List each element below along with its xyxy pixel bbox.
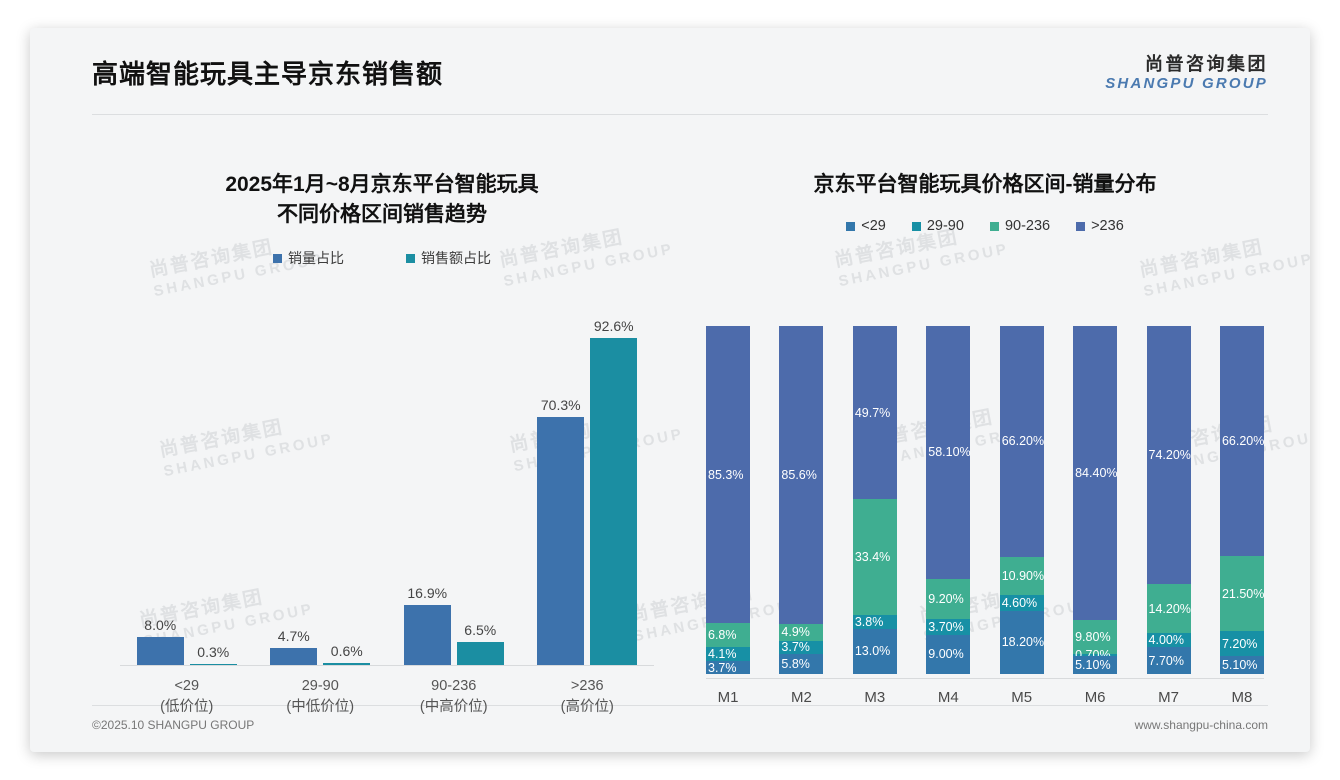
bar-column[interactable]: 0.6% — [323, 312, 370, 665]
category-tick-line1: 29-90 — [261, 676, 379, 697]
chart-title-left-line2: 不同价格区间销售趋势 — [92, 200, 672, 230]
segment-value-label: 84.40% — [1075, 466, 1117, 480]
stacked-bar-segment[interactable]: 7.20% — [1220, 631, 1264, 656]
bar-group: 16.9%6.5% — [395, 312, 513, 665]
stacked-bar-segment[interactable]: 6.8% — [706, 623, 750, 647]
stacked-bar-column[interactable]: 58.10%9.20%3.70%9.00% — [926, 326, 970, 674]
bar-value-label: 70.3% — [541, 397, 581, 413]
chart-title-left-line1: 2025年1月~8月京东平台智能玩具 — [92, 170, 672, 200]
legend-right-label: 29-90 — [927, 218, 964, 234]
segment-value-label: 5.10% — [1075, 658, 1110, 672]
header-divider — [92, 114, 1268, 115]
stacked-bar-segment[interactable]: 9.20% — [926, 579, 970, 619]
bar-value-label: 16.9% — [407, 585, 447, 601]
segment-value-label: 9.20% — [928, 592, 963, 606]
stacked-bar-segment[interactable]: 85.3% — [706, 326, 750, 623]
legend-right-item[interactable]: 90-236 — [990, 218, 1050, 234]
segment-value-label: 21.50% — [1222, 587, 1264, 601]
month-tick-label: M4 — [926, 679, 970, 724]
legend-swatch-icon — [273, 254, 282, 263]
bar-value-label: 8.0% — [144, 617, 176, 633]
brand-logo: 尚普咨询集团 SHANGPU GROUP — [1105, 54, 1268, 93]
bar[interactable] — [190, 664, 237, 665]
legend-swatch-icon — [406, 254, 415, 263]
stacked-bar-segment[interactable]: 66.20% — [1220, 326, 1264, 556]
stacked-bar-column[interactable]: 74.20%14.20%4.00%7.70% — [1147, 326, 1191, 674]
segment-value-label: 74.20% — [1149, 448, 1191, 462]
category-tick-line1: <29 — [128, 676, 246, 697]
month-tick-label: M2 — [779, 679, 823, 724]
segment-value-label: 85.3% — [708, 468, 743, 482]
legend-right-item[interactable]: <29 — [846, 218, 886, 234]
segment-value-label: 14.20% — [1149, 602, 1191, 616]
stacked-bar-segment[interactable]: 4.00% — [1147, 633, 1191, 647]
segment-value-label: 5.10% — [1222, 658, 1257, 672]
category-tick-line2: (低价位) — [128, 697, 246, 718]
legend-left-item[interactable]: 销量占比 — [273, 248, 344, 268]
segment-value-label: 66.20% — [1222, 434, 1264, 448]
stacked-bar-segment[interactable]: 3.70% — [926, 619, 970, 635]
stacked-bar-column[interactable]: 85.3%6.8%4.1%3.7% — [706, 326, 750, 674]
month-tick-label: M1 — [706, 679, 750, 724]
chart-legend-right: <2929-9090-236>236 — [692, 218, 1278, 234]
legend-swatch-icon — [846, 222, 855, 231]
category-tick-label: <29(低价位) — [128, 668, 246, 724]
segment-value-label: 4.60% — [1002, 596, 1037, 610]
legend-left-label: 销售额占比 — [421, 248, 491, 268]
bar-group: 4.7%0.6% — [261, 312, 379, 665]
stacked-bar-segment[interactable]: 4.60% — [1000, 595, 1044, 611]
month-tick-label: M7 — [1147, 679, 1191, 724]
month-tick-label: M3 — [853, 679, 897, 724]
stacked-bar-segment[interactable]: 66.20% — [1000, 326, 1044, 557]
stacked-bar-segment[interactable]: 5.10% — [1220, 656, 1264, 674]
stacked-bar-segment[interactable]: 14.20% — [1147, 584, 1191, 633]
stacked-bar-segment[interactable]: 74.20% — [1147, 326, 1191, 584]
segment-value-label: 66.20% — [1002, 434, 1044, 448]
segment-value-label: 13.0% — [855, 644, 890, 658]
month-tick-label: M6 — [1073, 679, 1117, 724]
bar-group: 70.3%92.6% — [528, 312, 646, 665]
bar-column[interactable]: 6.5% — [457, 312, 504, 665]
slide-canvas: 尚普咨询集团SHANGPU GROUP 尚普咨询集团SHANGPU GROUP … — [30, 28, 1310, 752]
chart-title-right: 京东平台智能玩具价格区间-销量分布 — [692, 144, 1278, 200]
month-tick-label: M5 — [1000, 679, 1044, 724]
stacked-bar-segment[interactable]: 21.50% — [1220, 556, 1264, 631]
bar[interactable] — [323, 663, 370, 665]
bar-column[interactable]: 4.7% — [270, 312, 317, 665]
bar[interactable] — [137, 637, 184, 665]
bar-column[interactable]: 16.9% — [404, 312, 451, 665]
category-tick-label: 90-236(中高价位) — [395, 668, 513, 724]
segment-value-label: 3.8% — [855, 615, 884, 629]
stacked-bar-segment[interactable]: 5.10% — [1073, 656, 1117, 674]
legend-left-label: 销量占比 — [288, 248, 344, 268]
segment-value-label: 4.9% — [781, 625, 810, 639]
chart-title-left: 2025年1月~8月京东平台智能玩具 不同价格区间销售趋势 — [92, 144, 672, 230]
stacked-bar-column[interactable]: 49.7%33.4%3.8%13.0% — [853, 326, 897, 674]
segment-value-label: 18.20% — [1002, 635, 1044, 649]
legend-swatch-icon — [990, 222, 999, 231]
legend-right-item[interactable]: 29-90 — [912, 218, 964, 234]
legend-right-label: >236 — [1091, 218, 1124, 234]
bar-column[interactable]: 0.3% — [190, 312, 237, 665]
bar-value-label: 92.6% — [594, 318, 634, 334]
grouped-bar-category-axis: <29(低价位)29-90(中低价位)90-236(中高价位)>236(高价位) — [120, 668, 654, 724]
segment-value-label: 85.6% — [781, 468, 816, 482]
legend-swatch-icon — [912, 222, 921, 231]
legend-right-label: 90-236 — [1005, 218, 1050, 234]
category-tick-label: >236(高价位) — [528, 668, 646, 724]
stacked-bar-column[interactable]: 66.20%21.50%7.20%5.10% — [1220, 326, 1264, 674]
bar-column[interactable]: 92.6% — [590, 312, 637, 665]
stacked-bar-column[interactable]: 84.40%9.80%0.70%5.10% — [1073, 326, 1117, 674]
segment-value-label: 9.00% — [928, 647, 963, 661]
stacked-bar-segment[interactable]: 33.4% — [853, 499, 897, 615]
stacked-bar-segment[interactable]: 4.9% — [779, 624, 823, 641]
chart-panel-left: 2025年1月~8月京东平台智能玩具 不同价格区间销售趋势 销量占比销售额占比 … — [92, 144, 672, 724]
segment-value-label: 4.00% — [1149, 633, 1184, 647]
bar[interactable] — [590, 338, 637, 665]
legend-right-item[interactable]: >236 — [1076, 218, 1124, 234]
stacked-bar-plot-area: 85.3%6.8%4.1%3.7%85.6%4.9%3.7%5.8%49.7%3… — [706, 326, 1264, 674]
stacked-bar-segment[interactable]: 7.70% — [1147, 647, 1191, 674]
bar-value-label: 0.3% — [197, 644, 229, 660]
legend-right-label: <29 — [861, 218, 886, 234]
segment-value-label: 5.8% — [781, 657, 810, 671]
brand-logo-en: SHANGPU GROUP — [1105, 75, 1268, 93]
month-tick-label: M8 — [1220, 679, 1264, 724]
legend-swatch-icon — [1076, 222, 1085, 231]
category-tick-line1: 90-236 — [395, 676, 513, 697]
grouped-bar-plot-area: 8.0%0.3%4.7%0.6%16.9%6.5%70.3%92.6% — [120, 312, 654, 666]
stacked-bar-segment[interactable]: 3.7% — [779, 641, 823, 654]
segment-value-label: 10.90% — [1002, 569, 1044, 583]
bar[interactable] — [457, 642, 504, 665]
stacked-bar-segment[interactable]: 85.6% — [779, 326, 823, 624]
bar-group: 8.0%0.3% — [128, 312, 246, 665]
slide-header: 高端智能玩具主导京东销售额 尚普咨询集团 SHANGPU GROUP — [30, 28, 1310, 114]
grouped-bar-chart: 8.0%0.3%4.7%0.6%16.9%6.5%70.3%92.6% <29(… — [102, 312, 662, 724]
brand-logo-cn: 尚普咨询集团 — [1105, 54, 1268, 75]
stacked-bar-column[interactable]: 85.6%4.9%3.7%5.8% — [779, 326, 823, 674]
stacked-bar-segment[interactable]: 13.0% — [853, 629, 897, 674]
stacked-bar-segment[interactable]: 9.00% — [926, 635, 970, 674]
segment-value-label: 7.70% — [1149, 654, 1184, 668]
bar-column[interactable]: 8.0% — [137, 312, 184, 665]
stacked-bar-segment[interactable]: 5.8% — [779, 654, 823, 674]
segment-value-label: 49.7% — [855, 406, 890, 420]
bar[interactable] — [404, 605, 451, 665]
chart-panel-right: 京东平台智能玩具价格区间-销量分布 <2929-9090-236>236 85.… — [692, 144, 1278, 724]
stacked-bar-segment[interactable]: 84.40% — [1073, 326, 1117, 620]
segment-value-label: 33.4% — [855, 550, 890, 564]
segment-value-label: 7.20% — [1222, 637, 1257, 651]
segment-value-label: 4.1% — [708, 647, 737, 661]
bar-column[interactable]: 70.3% — [537, 312, 584, 665]
legend-left-item[interactable]: 销售额占比 — [406, 248, 491, 268]
bar-value-label: 6.5% — [464, 622, 496, 638]
stacked-bar-segment[interactable]: 18.20% — [1000, 611, 1044, 674]
category-tick-line2: (中低价位) — [261, 697, 379, 718]
stacked-bar-segment[interactable]: 4.1% — [706, 647, 750, 661]
segment-value-label: 3.70% — [928, 620, 963, 634]
stacked-bar-category-axis: M1M2M3M4M5M6M7M8 — [706, 678, 1264, 724]
segment-value-label: 6.8% — [708, 628, 737, 642]
segment-value-label: 3.7% — [781, 640, 810, 654]
category-tick-line2: (高价位) — [528, 697, 646, 718]
bar-value-label: 4.7% — [278, 628, 310, 644]
stacked-bar-segment[interactable]: 58.10% — [926, 326, 970, 579]
stacked-bar-segment[interactable]: 3.8% — [853, 615, 897, 628]
bar-value-label: 0.6% — [331, 643, 363, 659]
stacked-bar-column[interactable]: 66.20%10.90%4.60%18.20% — [1000, 326, 1044, 674]
segment-value-label: 3.7% — [708, 661, 737, 675]
category-tick-line2: (中高价位) — [395, 697, 513, 718]
segment-value-label: 58.10% — [928, 445, 970, 459]
stacked-bar-chart: 85.3%6.8%4.1%3.7%85.6%4.9%3.7%5.8%49.7%3… — [698, 304, 1272, 724]
category-tick-line1: >236 — [528, 676, 646, 697]
stacked-bar-segment[interactable]: 49.7% — [853, 326, 897, 499]
bar[interactable] — [270, 648, 317, 665]
stacked-bar-segment[interactable]: 10.90% — [1000, 557, 1044, 595]
segment-value-label: 9.80% — [1075, 630, 1110, 644]
bar[interactable] — [537, 417, 584, 665]
page-title: 高端智能玩具主导京东销售额 — [92, 54, 443, 91]
stacked-bar-segment[interactable]: 3.7% — [706, 661, 750, 674]
chart-legend-left: 销量占比销售额占比 — [92, 248, 672, 268]
category-tick-label: 29-90(中低价位) — [261, 668, 379, 724]
